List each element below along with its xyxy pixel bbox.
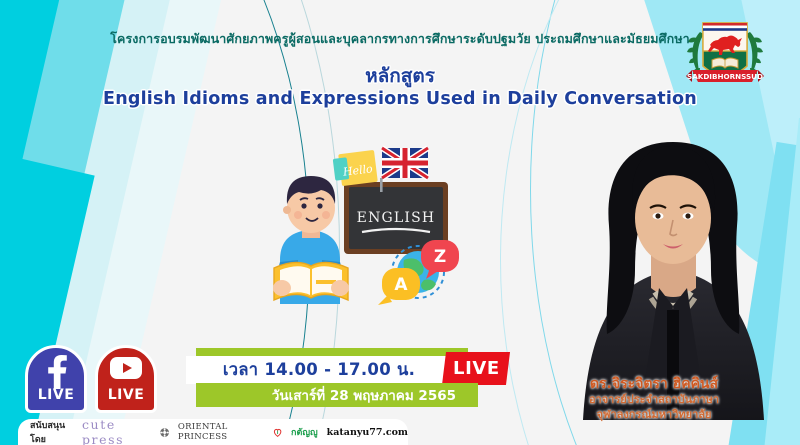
sponsor-katanyu: กตัญญู — [291, 425, 318, 439]
student-character — [273, 176, 349, 304]
speaker-role-line-1: อาจารย์ประจำสถาบันภาษา — [520, 393, 788, 408]
speaker-info: ดร.จิระจิตรา ฮิคคินส์ อาจารย์ประจำสถาบัน… — [520, 376, 788, 423]
facebook-live-button[interactable]: LIVE — [25, 345, 87, 413]
sticky-note-icon: Hello — [333, 150, 378, 186]
blackboard-text: ENGLISH — [357, 210, 436, 226]
english-learning-illustration: ENGLISH Hello — [258, 140, 478, 310]
sponsor-cute-press: cute press — [82, 417, 151, 445]
flower-icon — [160, 427, 169, 438]
speech-bubble-a: A — [378, 268, 420, 305]
schedule-band-bottom: วันเสาร์ที่ 28 พฤษภาคม 2565 — [196, 383, 478, 407]
live-badge: LIVE — [442, 352, 510, 385]
facebook-live-label: LIVE — [38, 387, 75, 403]
program-header-line: โครงการอบรมพัฒนาศักยภาพครูผู้สอนและบุคลา… — [0, 29, 800, 49]
course-title: English Idioms and Expressions Used in D… — [0, 89, 800, 109]
bubble-a-text: A — [394, 275, 408, 295]
youtube-icon — [109, 355, 143, 381]
bubble-z-text: Z — [434, 247, 446, 267]
live-badge-label: LIVE — [453, 358, 500, 379]
youtube-live-label: LIVE — [108, 387, 145, 403]
poster-canvas: SAKDIBHORNSSUD โครงการอบรมพัฒนาศักยภาพคร… — [0, 0, 800, 445]
course-label: หลักสูตร — [0, 61, 800, 91]
schedule-date-text: วันเสาร์ที่ 28 พฤษภาคม 2565 — [272, 384, 456, 406]
speaker-name: ดร.จิระจิตรา ฮิคคินส์ — [520, 376, 788, 394]
schedule-time-text: เวลา 14.00 - 17.00 น. — [186, 356, 452, 384]
youtube-live-button[interactable]: LIVE — [95, 345, 157, 413]
sponsor-prefix: สนับสนุนโดย — [30, 418, 73, 445]
katanyu-icon — [273, 427, 282, 438]
sponsor-katanyu-url: katanyu77.com — [327, 427, 408, 438]
speaker-role-line-2: จุฬาลงกรณ์มหาวิทยาลัย — [520, 408, 788, 423]
sponsor-oriental-princess: ORIENTAL PRINCESS — [178, 422, 264, 442]
facebook-icon — [43, 355, 69, 389]
sponsor-bar: สนับสนุนโดย cute press ORIENTAL PRINCESS… — [18, 419, 408, 445]
